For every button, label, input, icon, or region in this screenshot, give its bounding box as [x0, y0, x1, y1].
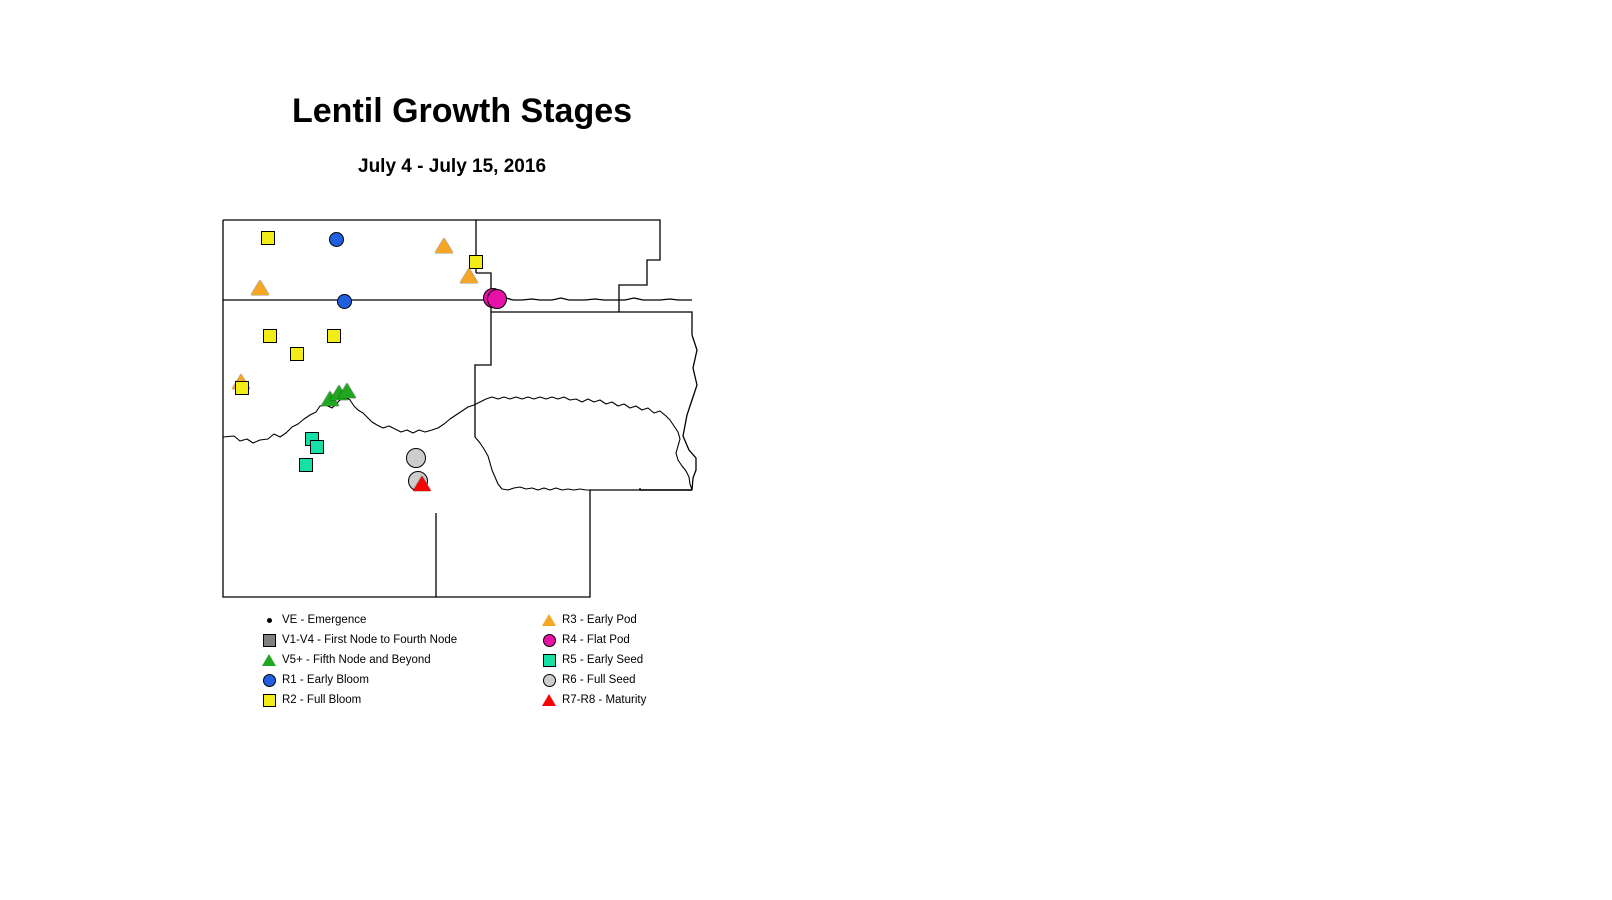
- map-point-v5plus[interactable]: [338, 383, 356, 398]
- map-point-r1[interactable]: [337, 294, 352, 309]
- legend-swatch: [543, 674, 556, 687]
- map-point-r2[interactable]: [327, 329, 341, 343]
- legend-item-v1-v4[interactable]: V1-V4 - First Node to Fourth Node: [256, 630, 457, 650]
- legend-item-label: VE - Emergence: [282, 610, 366, 630]
- legend-item-ve[interactable]: VE - Emergence: [256, 610, 457, 630]
- legend-item-label: R4 - Flat Pod: [562, 630, 630, 650]
- map-page: Lentil Growth Stages July 4 - July 15, 2…: [0, 0, 1612, 900]
- legend-item-r1[interactable]: R1 - Early Bloom: [256, 670, 457, 690]
- data-point-layer: [200, 200, 760, 620]
- legend-item-label: R5 - Early Seed: [562, 650, 643, 670]
- page-title: Lentil Growth Stages: [292, 92, 632, 131]
- legend-item-label: R2 - Full Bloom: [282, 690, 361, 710]
- map-point-r2[interactable]: [290, 347, 304, 361]
- legend-column-right: R3 - Early PodR4 - Flat PodR5 - Early Se…: [536, 610, 646, 710]
- map-point-r3[interactable]: [251, 280, 269, 295]
- legend-symbol-r1: [256, 670, 282, 690]
- legend-item-label: R6 - Full Seed: [562, 670, 636, 690]
- legend: VE - EmergenceV1-V4 - First Node to Four…: [256, 610, 696, 720]
- legend-symbol-v5plus: [256, 650, 282, 670]
- legend-symbol-v1-v4: [256, 630, 282, 650]
- map-point-r3[interactable]: [435, 238, 453, 253]
- legend-swatch: [542, 694, 556, 706]
- legend-item-r5[interactable]: R5 - Early Seed: [536, 650, 646, 670]
- map-point-r5[interactable]: [310, 440, 324, 454]
- legend-item-label: R1 - Early Bloom: [282, 670, 369, 690]
- legend-item-v5plus[interactable]: V5+ - Fifth Node and Beyond: [256, 650, 457, 670]
- legend-item-label: V5+ - Fifth Node and Beyond: [282, 650, 431, 670]
- page-subtitle: July 4 - July 15, 2016: [358, 156, 546, 178]
- legend-symbol-r7-r8: [536, 690, 562, 710]
- map-point-r5[interactable]: [299, 458, 313, 472]
- legend-symbol-ve: [256, 610, 282, 630]
- legend-swatch: [543, 634, 556, 647]
- legend-swatch: [263, 634, 276, 647]
- legend-symbol-r2: [256, 690, 282, 710]
- legend-swatch: [267, 618, 272, 623]
- legend-item-r2[interactable]: R2 - Full Bloom: [256, 690, 457, 710]
- legend-swatch: [262, 654, 276, 666]
- map-point-r2[interactable]: [263, 329, 277, 343]
- legend-item-r7-r8[interactable]: R7-R8 - Maturity: [536, 690, 646, 710]
- map-point-r3[interactable]: [460, 268, 478, 283]
- legend-swatch: [263, 674, 276, 687]
- legend-item-r4[interactable]: R4 - Flat Pod: [536, 630, 646, 650]
- map-point-r1[interactable]: [329, 232, 344, 247]
- legend-item-r3[interactable]: R3 - Early Pod: [536, 610, 646, 630]
- map-point-r6[interactable]: [406, 448, 426, 468]
- map-canvas[interactable]: [200, 200, 760, 620]
- map-point-r2[interactable]: [235, 381, 249, 395]
- legend-symbol-r3: [536, 610, 562, 630]
- legend-swatch: [542, 614, 556, 626]
- legend-column-left: VE - EmergenceV1-V4 - First Node to Four…: [256, 610, 457, 710]
- legend-item-label: R7-R8 - Maturity: [562, 690, 646, 710]
- legend-item-label: V1-V4 - First Node to Fourth Node: [282, 630, 457, 650]
- legend-swatch: [543, 654, 556, 667]
- map-point-r7-r8[interactable]: [413, 476, 431, 491]
- legend-symbol-r6: [536, 670, 562, 690]
- legend-symbol-r5: [536, 650, 562, 670]
- legend-item-label: R3 - Early Pod: [562, 610, 637, 630]
- map-point-r4[interactable]: [487, 289, 507, 309]
- legend-swatch: [263, 694, 276, 707]
- legend-symbol-r4: [536, 630, 562, 650]
- legend-item-r6[interactable]: R6 - Full Seed: [536, 670, 646, 690]
- map-point-r2[interactable]: [261, 231, 275, 245]
